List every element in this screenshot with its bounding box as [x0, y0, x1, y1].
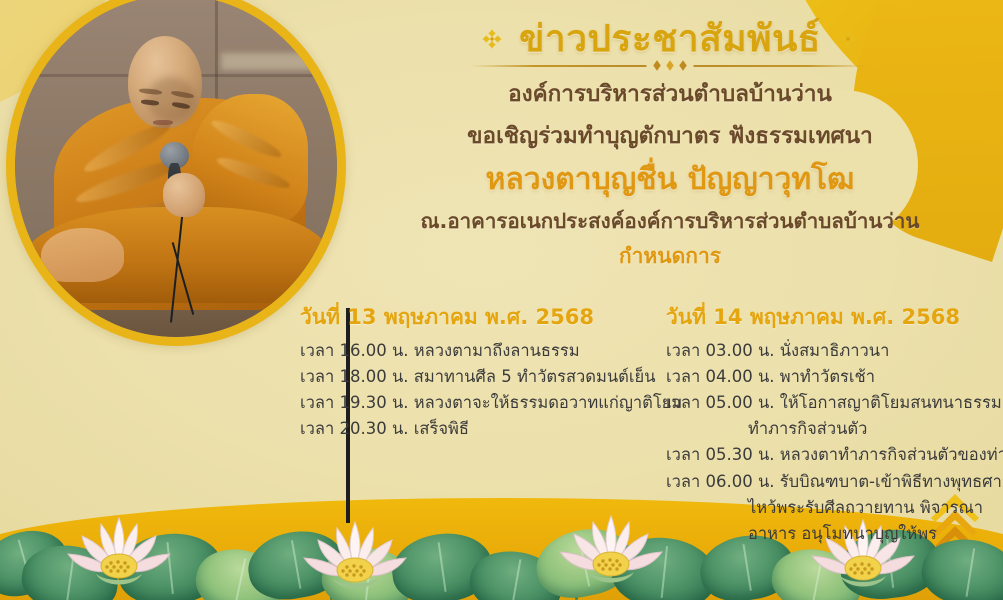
title-row: ข่าวประชาสัมพันธ์: [350, 18, 990, 59]
invitation-line: ขอเชิญร่วมทำบุญตักบาตร ฟังธรรมเทศนา: [350, 121, 990, 151]
monk-robe-shoulder: [192, 94, 308, 224]
announcement-poster: ข่าวประชาสัมพันธ์: [0, 0, 1003, 600]
schedule-entry: เวลา 19.30 น. หลวงตาจะให้ธรรมดอวาทแก่ญาต…: [300, 390, 632, 416]
poster-header: ข่าวประชาสัมพันธ์: [350, 18, 990, 269]
schedule-entry: เวลา 20.30 น. เสร็จพิธี: [300, 416, 632, 442]
schedule-entry-continuation: อาหาร อนุโมทนาบุญให้พร: [666, 521, 1000, 547]
divider-diamond-icon: [679, 60, 688, 71]
schedule-entry-continuation: ไหว้พระรับศีลถวายทาน พิจารณา: [666, 495, 1000, 521]
title-divider: [470, 60, 870, 72]
monk-mouth: [153, 120, 172, 125]
schedule-entry: เวลา 04.00 น. พาทำวัตรเช้า: [666, 364, 1000, 390]
diamond-divider-icon: [647, 60, 694, 71]
monk-face-shadow: [147, 77, 195, 121]
schedule-day1-column: วันที่ 13 พฤษภาคม พ.ศ. 2568 เวลา 16.00 น…: [300, 305, 648, 547]
schedule-entry: เวลา 05.30 น. หลวงตาทำภารกิจส่วนตัวของท่…: [666, 442, 1000, 468]
monk-hand-holding-microphone: [163, 173, 205, 217]
day1-date-label: วันที่ 13 พฤษภาคม พ.ศ. 2568: [300, 305, 632, 330]
page-title: ข่าวประชาสัมพันธ์: [519, 18, 821, 59]
schedule-entry: เวลา 06.00 น. รับบิณฑบาต-เข้าพิธีทางพุทธ…: [666, 469, 1000, 495]
schedule-entry: เวลา 03.00 น. นั่งสมาธิภาวนา: [666, 338, 1000, 364]
monk-name: หลวงตาบุญชื่น ปัญญาวุทโฒ: [350, 161, 990, 199]
schedule-section: วันที่ 13 พฤษภาคม พ.ศ. 2568 เวลา 16.00 น…: [300, 305, 1000, 547]
schedule-entry-continuation: ทำภารกิจส่วนตัว: [666, 416, 1000, 442]
wall-light-reflection: [221, 53, 330, 70]
schedule-entry: เวลา 05.00 น. ให้โอกาสญาติโยมสนทนาธรรมแล…: [666, 390, 1000, 416]
day2-date-label: วันที่ 14 พฤษภาคม พ.ศ. 2568: [666, 305, 1000, 330]
organization-name: องค์การบริหารส่วนตำบลบ้านว่าน: [350, 79, 990, 109]
schedule-heading: กำหนดการ: [350, 244, 990, 269]
schedule-entry: เวลา 18.00 น. สมาทานศีล 5 ทำวัตรสวดมนต์เ…: [300, 364, 632, 390]
monk-portrait-image: [15, 0, 337, 337]
diamond-flower-icon: [837, 28, 859, 50]
lotus-flower-icon: [56, 510, 182, 594]
divider-diamond-icon: [666, 60, 675, 71]
divider-diamond-icon: [653, 60, 662, 71]
venue-line: ณ.อาคารอเนกประสงค์องค์การบริหารส่วนตำบลบ…: [350, 208, 990, 235]
schedule-day2-column: วันที่ 14 พฤษภาคม พ.ศ. 2568 เวลา 03.00 น…: [648, 305, 1000, 547]
monk-left-arm: [41, 228, 125, 283]
monk-portrait-photo: [6, 0, 346, 346]
schedule-entry: เวลา 16.00 น. หลวงตามาถึงลานธรรม: [300, 338, 632, 364]
diamond-flower-icon: [481, 28, 503, 50]
